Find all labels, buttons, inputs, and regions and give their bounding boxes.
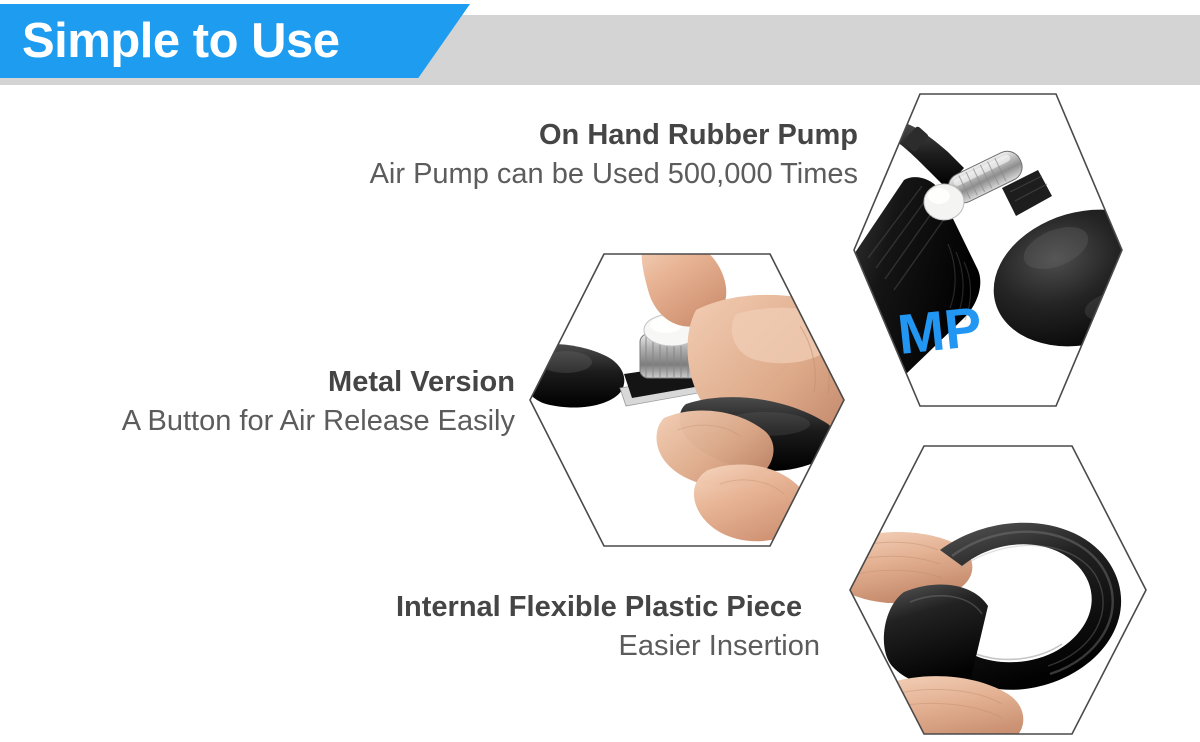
feature-subtitle-metal-version: A Button for Air Release Easily <box>0 401 515 441</box>
feature-text-plastic-piece: Internal Flexible Plastic Piece Easier I… <box>396 588 820 666</box>
feature-subtitle-plastic-piece: Easier Insertion <box>396 626 820 666</box>
feature-subtitle-rubber-pump: Air Pump can be Used 500,000 Times <box>0 154 858 194</box>
feature-title-metal-version: Metal Version <box>0 363 515 401</box>
feature-text-rubber-pump: On Hand Rubber Pump Air Pump can be Used… <box>0 116 858 194</box>
feature-title-rubber-pump: On Hand Rubber Pump <box>0 116 858 154</box>
infographic-page: Simple to Use On Hand Rubber Pump Air Pu… <box>0 0 1200 742</box>
airbag-logo-text: MP <box>895 294 985 365</box>
feature-title-plastic-piece: Internal Flexible Plastic Piece <box>396 588 820 626</box>
metal-version-photo <box>528 252 864 548</box>
feature-text-metal-version: Metal Version A Button for Air Release E… <box>0 363 515 441</box>
header-banner: Simple to Use <box>0 0 1200 100</box>
feature-image-metal-version <box>528 252 864 548</box>
page-title: Simple to Use <box>22 8 340 74</box>
feature-image-rubber-pump: MP <box>852 92 1124 408</box>
rubber-pump-photo: MP <box>852 92 1124 408</box>
plastic-piece-photo <box>848 444 1148 736</box>
feature-image-plastic-piece <box>848 444 1148 736</box>
